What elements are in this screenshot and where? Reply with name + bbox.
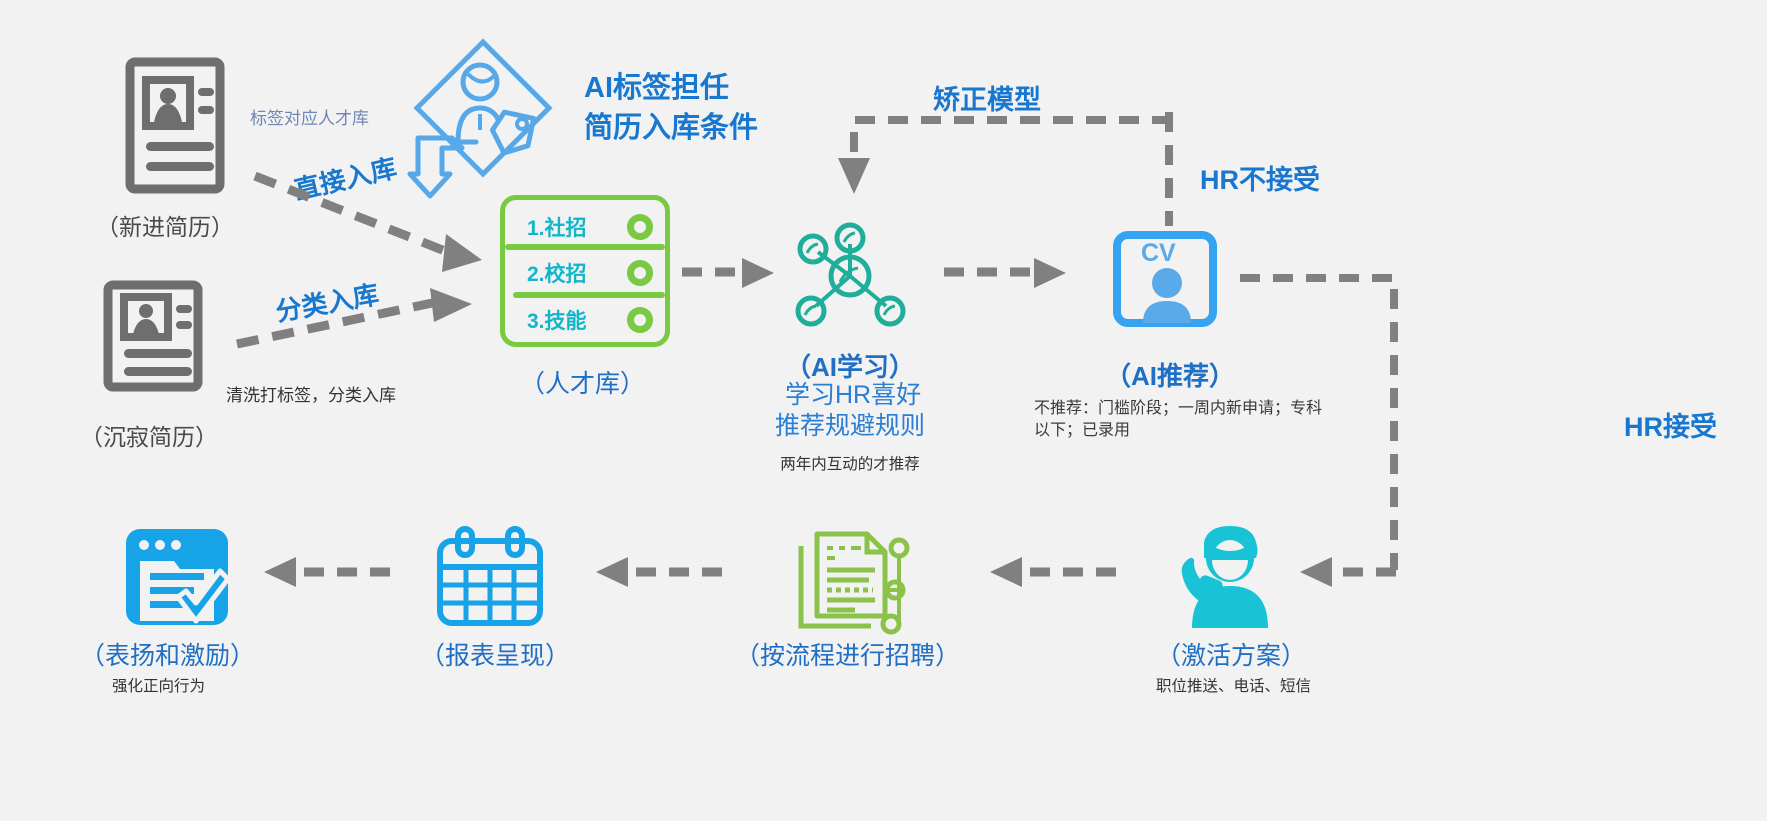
tag-talent-pool-tagline: 标签对应人才库 xyxy=(250,104,369,129)
dormant-resume-icon xyxy=(104,281,202,391)
network-nodes-icon xyxy=(794,222,906,330)
hr-reject-label: HR不接受 xyxy=(1200,158,1320,197)
green-circle-icon xyxy=(627,307,653,333)
dashed-cv-up-line xyxy=(1160,108,1180,228)
dormant-resume-caption: （沉寂简历） xyxy=(80,418,218,452)
document-workflow-icon xyxy=(795,528,911,632)
diagram-canvas: （新进简历） 标签对应人才库 （沉寂简历） 清洗打标签，分类入库 xyxy=(0,0,1767,821)
dormant-resume-note: 清洗打标签，分类入库 xyxy=(226,381,396,406)
arrow-report-to-praise xyxy=(256,555,396,591)
hr-accept-label: HR接受 xyxy=(1624,405,1717,444)
arrow-new-to-pool xyxy=(250,168,500,278)
activate-note: 职位推送、电话、短信 xyxy=(1156,674,1311,696)
praise-note: 强化正向行为 xyxy=(112,674,205,696)
ai-tag-label-line1: AI标签担任 xyxy=(584,64,729,106)
report-caption: （报表呈现） xyxy=(420,636,570,672)
ai-recommend-note-line1: 不推荐：门槛阶段；一周内新申 xyxy=(1034,400,1258,417)
ai-learning-note: 两年内互动的才推荐 xyxy=(760,452,940,474)
new-resume-icon xyxy=(126,58,224,193)
ai-learning-title: （AI学习） xyxy=(785,347,915,384)
talent-pool-item-label-1: 2.校招 xyxy=(527,258,587,288)
talent-pool-item-label-2: 3.技能 xyxy=(527,305,587,335)
talent-pool-item-label-0: 1.社招 xyxy=(527,212,587,242)
arrow-correction-model-loop xyxy=(836,108,1186,208)
ai-learning-sub-line2: 推荐规避规则 xyxy=(760,411,940,442)
arrow-pool-to-ai-learning xyxy=(680,256,780,292)
arrow-process-to-report xyxy=(588,555,728,591)
process-caption: （按流程进行招聘） xyxy=(735,636,960,672)
calendar-icon xyxy=(436,527,544,627)
cv-card-text: CV xyxy=(1141,239,1176,268)
praise-caption: （表扬和激励） xyxy=(80,636,255,672)
person-phone-icon xyxy=(1168,524,1286,628)
arrow-to-activate xyxy=(1292,555,1402,591)
window-checklist-icon xyxy=(124,527,230,627)
green-circle-icon xyxy=(627,214,653,240)
talent-pool-caption: （人才库） xyxy=(520,364,645,400)
ai-learning-sub-line1: 学习HR喜好 xyxy=(785,380,915,411)
ai-recommend-title: （AI推荐） xyxy=(1105,356,1227,393)
arrow-dormant-to-pool xyxy=(232,286,492,358)
arrow-activate-to-process xyxy=(982,555,1122,591)
activate-caption: （激活方案） xyxy=(1156,636,1306,672)
talent-pool-box[interactable]: 1.社招 2.校招 3.技能 xyxy=(500,195,670,347)
correction-model-label: 矫正模型 xyxy=(933,78,1041,117)
ai-tag-label-line2: 简历入库条件 xyxy=(584,104,758,146)
arrow-ai-learning-to-recommend xyxy=(942,256,1072,292)
green-circle-icon xyxy=(627,260,653,286)
new-resume-caption: （新进简历） xyxy=(96,208,234,242)
